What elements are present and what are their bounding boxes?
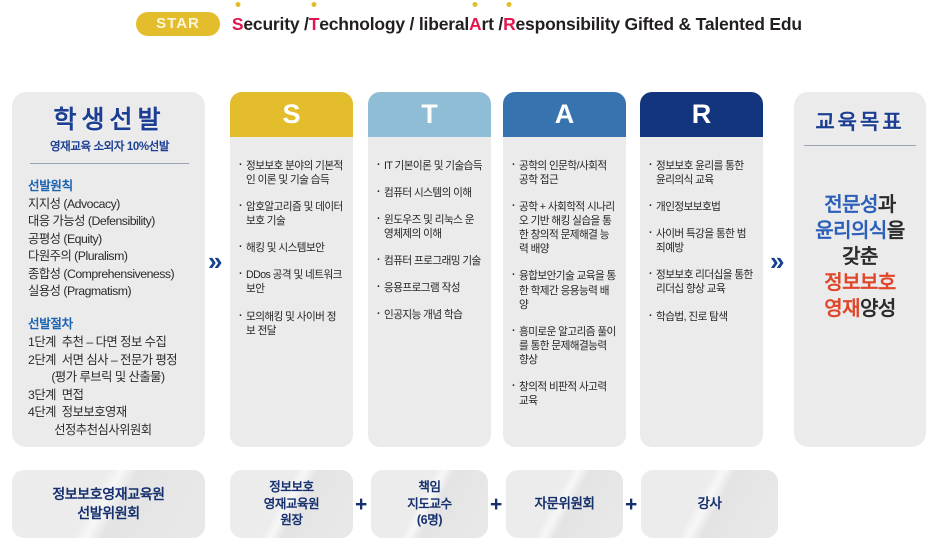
diagram-root: STAR Security / Technology / liberal Art… bbox=[0, 0, 938, 551]
selection-spacer bbox=[28, 300, 191, 313]
star-column-a: A 공학의 인문학/사회적 공학 접근공학 + 사회학적 시나리오 기반 해킹 … bbox=[503, 92, 626, 447]
bottom-professor: 책임지도교수(6명) bbox=[371, 470, 488, 538]
selection-principles-heading: 선발원칙 bbox=[28, 175, 191, 194]
goal-statement: 전문성과 윤리의식을 갖춘 정보보호 영재양성 bbox=[802, 192, 918, 322]
tagline-initial-t: T bbox=[309, 14, 320, 35]
procedure-item: (평가 루브릭 및 산출물) bbox=[28, 369, 191, 386]
star-column-s: S 정보보호 분야의 기본적인 이론 및 기술 습득암호알고리즘 및 데이터 보… bbox=[230, 92, 353, 447]
principle-item: 공평성 (Equity) bbox=[28, 231, 191, 248]
selection-title: 학생선발 bbox=[28, 106, 191, 135]
bottom-professor-label: 책임지도교수(6명) bbox=[407, 479, 451, 530]
curriculum-item: 정보보호 리더십을 통한 리더십 향상 교육 bbox=[649, 268, 755, 296]
curriculum-item: 공학의 인문학/사회적 공학 접근 bbox=[512, 159, 618, 187]
bottom-committee-label: 정보보호영재교육원선발위원회 bbox=[52, 485, 164, 523]
tagline-initial-r: R bbox=[503, 14, 515, 35]
plus-icon-1: + bbox=[355, 494, 367, 515]
bottom-advisory: 자문위원회 bbox=[506, 470, 623, 538]
bottom-director: 정보보호영재교육원원장 bbox=[230, 470, 353, 538]
selection-procedure-list: 1단계 추천 – 다면 정보 수집2단계 서면 심사 – 전문가 평정 (평가 … bbox=[28, 334, 191, 439]
curriculum-item: 개인정보보호법 bbox=[649, 200, 755, 214]
procedure-item: 3단계 면접 bbox=[28, 387, 191, 404]
goal-expertise: 전문성 bbox=[824, 194, 878, 216]
education-goal-panel: 교육목표 전문성과 윤리의식을 갖춘 정보보호 영재양성 bbox=[794, 92, 926, 447]
plus-icon-2: + bbox=[490, 494, 502, 515]
goal-line-1: 전문성과 bbox=[802, 192, 918, 218]
goal-line-2: 윤리의식을 bbox=[802, 218, 918, 244]
curriculum-item: 흥미로운 알고리즘 풀이를 통한 문제해결능력 향상 bbox=[512, 325, 618, 367]
procedure-item: 2단계 서면 심사 – 전문가 평정 bbox=[28, 352, 191, 369]
goal-particle-1: 과 bbox=[878, 194, 896, 216]
goal-ethics: 윤리의식 bbox=[815, 220, 887, 242]
curriculum-item: 컴퓨터 프로그래밍 기술 bbox=[377, 254, 483, 268]
bottom-advisory-label: 자문위원회 bbox=[534, 495, 594, 513]
student-selection-panel: 학생선발 영재교육 소외자 10%선발 선발원칙 지지성 (Advocacy)대… bbox=[12, 92, 205, 447]
tagline-text-7: esponsibility Gifted & Talented Edu bbox=[516, 14, 802, 35]
procedure-item: 4단계 정보보호영재 bbox=[28, 404, 191, 421]
curriculum-item: 컴퓨터 시스템의 이해 bbox=[377, 186, 483, 200]
star-column-r: R 정보보호 윤리를 통한 윤리의식 교육개인정보보호법사이버 특강을 통한 범… bbox=[640, 92, 763, 447]
procedure-item: 선정추천심사위원회 bbox=[28, 422, 191, 439]
bottom-lecturer: 강사 bbox=[641, 470, 778, 538]
column-header-a: A bbox=[503, 92, 626, 137]
goal-divider bbox=[804, 145, 916, 146]
tagline-text-1: ecurity / bbox=[243, 14, 308, 35]
page-header: STAR Security / Technology / liberal Art… bbox=[0, 12, 938, 36]
goal-particle-2: 을 bbox=[887, 220, 905, 242]
principle-item: 다원주의 (Pluralism) bbox=[28, 248, 191, 265]
chevron-right-icon-2: » bbox=[770, 248, 784, 274]
goal-line-5: 영재양성 bbox=[802, 296, 918, 322]
bottom-lecturer-label: 강사 bbox=[697, 495, 721, 513]
curriculum-item: 해킹 및 시스템보안 bbox=[239, 241, 345, 255]
curriculum-item: DDos 공격 및 네트워크 보안 bbox=[239, 268, 345, 296]
goal-title: 교육목표 bbox=[802, 106, 918, 136]
curriculum-item: 인공지능 개념 학습 bbox=[377, 308, 483, 322]
chevron-right-icon: » bbox=[208, 248, 222, 274]
selection-divider bbox=[30, 163, 189, 164]
curriculum-item: 공학 + 사회학적 시나리오 기반 해킹 실습을 통한 창의적 문제해결 능력 … bbox=[512, 200, 618, 256]
goal-nurture: 양성 bbox=[860, 298, 896, 320]
header-tagline: Security / Technology / liberal Art / Re… bbox=[232, 14, 802, 35]
tagline-initial-s: S bbox=[232, 14, 243, 35]
principle-item: 종합성 (Comprehensiveness) bbox=[28, 266, 191, 283]
selection-subtitle: 영재교육 소외자 10%선발 bbox=[28, 138, 191, 154]
plus-icon-3: + bbox=[625, 494, 637, 515]
column-body-s: 정보보호 분야의 기본적인 이론 및 기술 습득암호알고리즘 및 데이터 보호 … bbox=[230, 137, 353, 447]
star-column-t: T IT 기본이론 및 기술습득컴퓨터 시스템의 이해윈도우즈 및 리눅스 운영… bbox=[368, 92, 491, 447]
column-header-t: T bbox=[368, 92, 491, 137]
bottom-director-label: 정보보호영재교육원원장 bbox=[264, 479, 320, 530]
column-header-r: R bbox=[640, 92, 763, 137]
principle-item: 지지성 (Advocacy) bbox=[28, 196, 191, 213]
curriculum-item: 모의해킹 및 사이버 정보 전달 bbox=[239, 310, 345, 338]
curriculum-item: 융합보안기술 교육을 통한 학제간 응용능력 배양 bbox=[512, 269, 618, 311]
goal-line-3: 갖춘 bbox=[802, 244, 918, 270]
tagline-text-5: rt / bbox=[482, 14, 504, 35]
star-badge: STAR bbox=[136, 12, 220, 36]
curriculum-item: 정보보호 윤리를 통한 윤리의식 교육 bbox=[649, 159, 755, 187]
column-body-a: 공학의 인문학/사회적 공학 접근공학 + 사회학적 시나리오 기반 해킹 실습… bbox=[503, 137, 626, 447]
curriculum-item: 학습법, 진로 탐색 bbox=[649, 310, 755, 324]
tagline-initial-a: A bbox=[469, 14, 481, 35]
curriculum-item: IT 기본이론 및 기술습득 bbox=[377, 159, 483, 173]
column-body-t: IT 기본이론 및 기술습득컴퓨터 시스템의 이해윈도우즈 및 리눅스 운영체제… bbox=[368, 137, 491, 447]
column-header-s: S bbox=[230, 92, 353, 137]
curriculum-item: 사이버 특강을 통한 범죄예방 bbox=[649, 227, 755, 255]
curriculum-item: 응용프로그램 작성 bbox=[377, 281, 483, 295]
principle-item: 대응 가능성 (Defensibility) bbox=[28, 213, 191, 230]
selection-principles-list: 지지성 (Advocacy)대응 가능성 (Defensibility)공평성 … bbox=[28, 196, 191, 301]
curriculum-item: 암호알고리즘 및 데이터 보호 기술 bbox=[239, 200, 345, 228]
bottom-selection-committee: 정보보호영재교육원선발위원회 bbox=[12, 470, 205, 538]
curriculum-item: 창의적 비판적 사고력 교육 bbox=[512, 380, 618, 408]
selection-procedure-heading: 선발절차 bbox=[28, 313, 191, 332]
curriculum-item: 정보보호 분야의 기본적인 이론 및 기술 습득 bbox=[239, 159, 345, 187]
column-body-r: 정보보호 윤리를 통한 윤리의식 교육개인정보보호법사이버 특강을 통한 범죄예… bbox=[640, 137, 763, 447]
curriculum-item: 윈도우즈 및 리눅스 운영체제의 이해 bbox=[377, 213, 483, 241]
procedure-item: 1단계 추천 – 다면 정보 수집 bbox=[28, 334, 191, 351]
principle-item: 실용성 (Pragmatism) bbox=[28, 283, 191, 300]
goal-gifted: 영재 bbox=[824, 298, 860, 320]
tagline-text-3: echnology / liberal bbox=[319, 14, 469, 35]
goal-infosec: 정보보호 bbox=[802, 270, 918, 296]
